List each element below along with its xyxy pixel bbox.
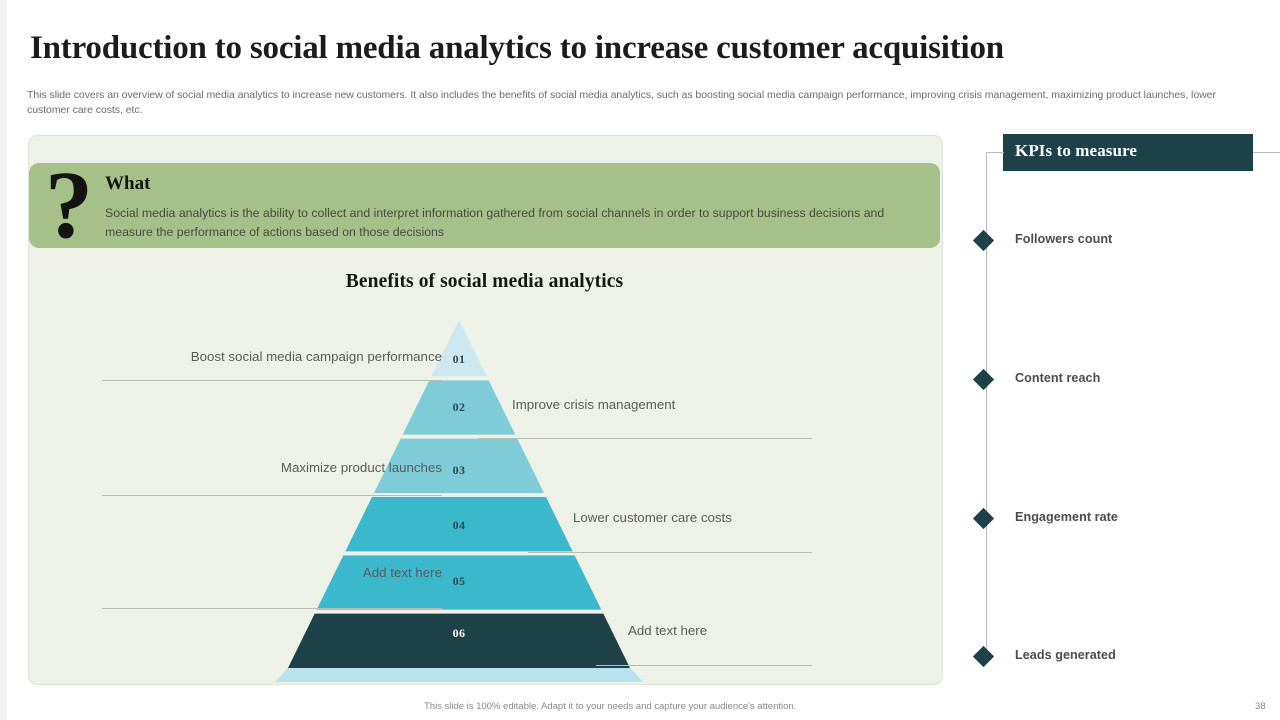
connector-line-01 [102, 380, 442, 381]
kpi-connector-top [986, 152, 1004, 153]
page-subtitle: This slide covers an overview of social … [27, 88, 1222, 118]
pyramid-number-03: 03 [439, 463, 479, 478]
diamond-icon [973, 230, 994, 251]
diamond-icon [973, 646, 994, 667]
pyramid-label-04: Lower customer care costs [573, 510, 732, 525]
left-edge-band [0, 0, 7, 720]
kpi-label: Engagement rate [1015, 510, 1118, 524]
page-number: 38 [1255, 701, 1266, 712]
diamond-icon [973, 369, 994, 390]
slide-canvas: Introduction to social media analytics t… [0, 0, 1280, 720]
kpi-header-title: KPIs to measure [1015, 141, 1137, 161]
pyramid-label-01: Boost social media campaign performance [142, 349, 442, 364]
pyramid-number-04: 04 [439, 518, 479, 533]
pyramid-number-05: 05 [439, 574, 479, 589]
kpi-label: Followers count [1015, 232, 1112, 246]
connector-line-04 [528, 552, 812, 553]
connector-line-05 [102, 608, 442, 609]
connector-line-06 [596, 665, 812, 666]
kpi-label: Leads generated [1015, 648, 1116, 662]
pyramid-diagram: Boost social media campaign performance … [28, 135, 941, 683]
pyramid-number-02: 02 [439, 400, 479, 415]
pyramid-number-06: 06 [439, 626, 479, 641]
kpi-label: Content reach [1015, 371, 1100, 385]
pyramid-shape [28, 135, 941, 683]
pyramid-number-01: 01 [439, 352, 479, 367]
page-title: Introduction to social media analytics t… [30, 30, 1260, 66]
pyramid-label-02: Improve crisis management [512, 397, 675, 412]
pyramid-base-shadow [275, 668, 643, 682]
connector-line-02 [478, 438, 812, 439]
kpi-header: KPIs to measure [1003, 134, 1253, 171]
pyramid-label-06: Add text here [628, 623, 707, 638]
pyramid-label-03: Maximize product launches [142, 460, 442, 475]
kpi-connector-right [1253, 152, 1280, 153]
kpi-vertical-axis [986, 152, 987, 658]
pyramid-label-05: Add text here [142, 565, 442, 580]
diamond-icon [973, 508, 994, 529]
footer-note: This slide is 100% editable. Adapt it to… [424, 701, 796, 712]
connector-line-03 [102, 495, 442, 496]
